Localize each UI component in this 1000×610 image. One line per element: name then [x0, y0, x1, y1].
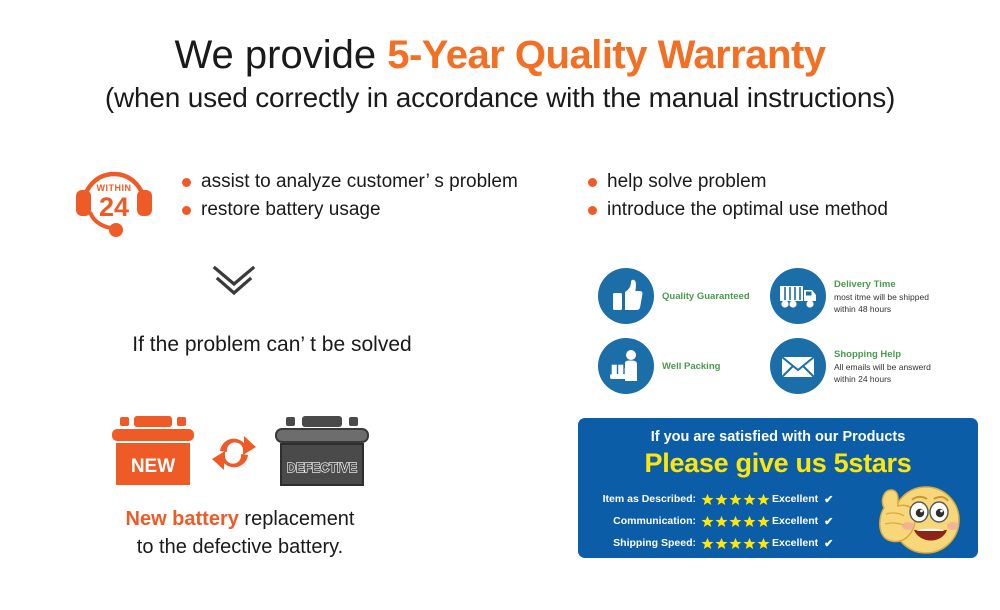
service-line1: All emails will be answerd [834, 361, 931, 373]
badge-number: 24 [99, 192, 129, 222]
bullet-dot-icon [182, 178, 191, 187]
rating-row: Shipping Speed: Excellent ✔ [592, 532, 852, 554]
smiley-thumbs-up-icon [850, 470, 972, 556]
service-title: Shopping Help [834, 348, 931, 361]
battery-replacement-graphic: NEW DEFECTIVE [100, 415, 380, 495]
defective-battery-label: DEFECTIVE [287, 461, 357, 475]
star-icon [729, 515, 742, 528]
support-bullets-right: help solve problem introduce the optimal… [588, 168, 888, 224]
page-header: We provide 5-Year Quality Warranty (when… [0, 32, 1000, 116]
service-text: Shopping Help All emails will be answerd… [834, 348, 931, 385]
support-section: WITHIN 24 assist to analyze customer’ s … [72, 160, 992, 240]
service-item-packing: Well Packing [598, 338, 720, 394]
rating-row: Item as Described: Excellent ✔ [592, 488, 852, 510]
five-star-banner: If you are satisfied with our Products P… [578, 418, 978, 558]
star-icon [701, 493, 714, 506]
star-rating [701, 515, 771, 528]
star-icon [729, 537, 742, 550]
headline-accent: 5-Year Quality Warranty [387, 33, 825, 77]
service-line1: most itme will be shipped [834, 291, 929, 303]
replacement-caption-line2: to the defective battery. [60, 533, 420, 561]
new-battery-icon: NEW [108, 415, 198, 487]
bullet-label: assist to analyze customer’ s problem [201, 168, 518, 196]
bullet-label: restore battery usage [201, 196, 381, 224]
rating-label: Communication: [592, 515, 696, 527]
service-features: Quality Guaranteed [598, 268, 978, 408]
replacement-caption-line1: New battery replacement [60, 505, 420, 533]
service-line2: within 48 hours [834, 303, 929, 315]
defective-battery-icon: DEFECTIVE [272, 415, 372, 487]
check-icon: ✔ [824, 493, 833, 506]
page-subtitle: (when used correctly in accordance with … [0, 80, 1000, 116]
bullet-dot-icon [588, 206, 597, 215]
rating-row: Communication: Excellent ✔ [592, 510, 852, 532]
star-icon [743, 493, 756, 506]
star-rating [701, 537, 771, 550]
problem-statement: If the problem can’ t be solved [92, 330, 452, 360]
star-icon [701, 515, 714, 528]
list-item: assist to analyze customer’ s problem [182, 168, 518, 196]
bullet-dot-icon [182, 206, 191, 215]
support-bullets-left: assist to analyze customer’ s problem re… [182, 168, 518, 224]
star-icon [701, 537, 714, 550]
star-rating [701, 493, 771, 506]
headset-icon: WITHIN 24 [72, 160, 156, 240]
star-icon [743, 537, 756, 550]
service-text: Quality Guaranteed [662, 290, 750, 303]
check-icon: ✔ [824, 515, 833, 528]
replacement-rest: replacement [239, 508, 355, 530]
page-title: We provide 5-Year Quality Warranty [0, 32, 1000, 78]
headline-lead: We provide [174, 33, 376, 77]
service-item-shopping-help: Shopping Help All emails will be answerd… [770, 338, 931, 394]
star-icon [729, 493, 742, 506]
replacement-caption: New battery replacement to the defective… [60, 505, 420, 561]
new-battery-label: NEW [131, 456, 175, 477]
service-title: Quality Guaranteed [662, 290, 750, 303]
service-item-quality: Quality Guaranteed [598, 268, 750, 324]
star-icon [715, 537, 728, 550]
star-icon [715, 515, 728, 528]
rating-list: Item as Described: Excellent ✔ Communica… [592, 488, 852, 554]
star-icon [715, 493, 728, 506]
service-text: Well Packing [662, 360, 720, 373]
list-item: introduce the optimal use method [588, 196, 888, 224]
replacement-highlight: New battery [126, 508, 239, 530]
star-icon [743, 515, 756, 528]
warranty-infographic: We provide 5-Year Quality Warranty (when… [0, 0, 1000, 610]
service-text: Delivery Time most itme will be shipped … [834, 278, 929, 315]
service-title: Delivery Time [834, 278, 929, 291]
double-chevron-down-icon [205, 262, 263, 300]
bullet-dot-icon [588, 178, 597, 187]
rating-value: Excellent [772, 493, 818, 505]
bullet-label: help solve problem [607, 168, 766, 196]
truck-icon [770, 268, 826, 324]
thumbs-up-icon [598, 268, 654, 324]
rating-label: Shipping Speed: [592, 537, 696, 549]
check-icon: ✔ [824, 537, 833, 550]
star-icon [757, 537, 770, 550]
rating-value: Excellent [772, 537, 818, 549]
star-icon [757, 493, 770, 506]
envelope-icon [770, 338, 826, 394]
list-item: restore battery usage [182, 196, 518, 224]
banner-line1: If you are satisfied with our Products [578, 429, 978, 445]
refresh-arrows-icon [210, 431, 258, 475]
service-title: Well Packing [662, 360, 720, 373]
bullet-label: introduce the optimal use method [607, 196, 888, 224]
star-icon [757, 515, 770, 528]
rating-label: Item as Described: [592, 493, 696, 505]
packing-person-icon [598, 338, 654, 394]
service-line2: within 24 hours [834, 373, 931, 385]
list-item: help solve problem [588, 168, 888, 196]
rating-value: Excellent [772, 515, 818, 527]
service-item-delivery: Delivery Time most itme will be shipped … [770, 268, 929, 324]
